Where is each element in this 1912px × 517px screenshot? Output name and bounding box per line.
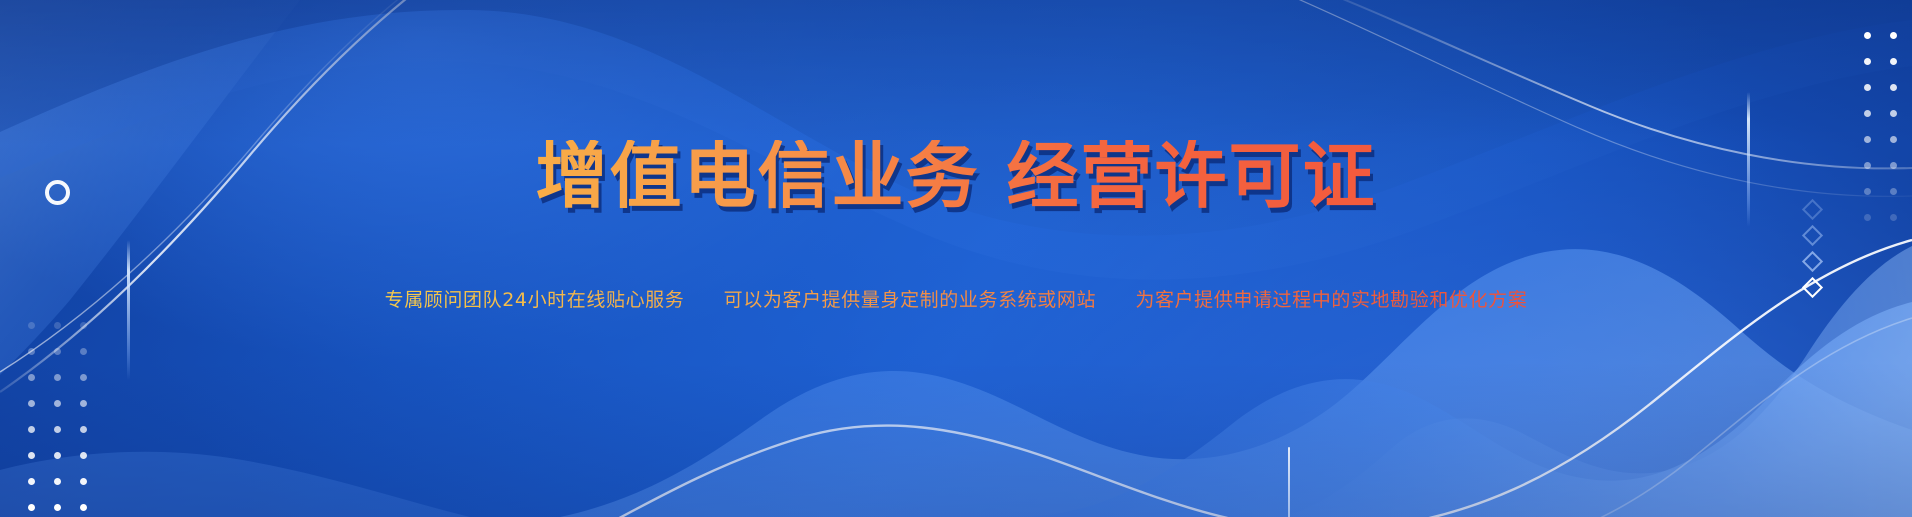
banner-subtitle: 专属顾问团队24小时在线贴心服务 可以为客户提供量身定制的业务系统或网站 为客户…: [0, 288, 1912, 313]
promo-banner: 增值电信业务 经营许可证 专属顾问团队24小时在线贴心服务 可以为客户提供量身定…: [0, 0, 1912, 517]
banner-content: 增值电信业务 经营许可证 专属顾问团队24小时在线贴心服务 可以为客户提供量身定…: [0, 0, 1912, 517]
subtitle-segment-3: 为客户提供申请过程中的实地勘验和优化方案: [1135, 289, 1527, 311]
subtitle-segment-1: 专属顾问团队24小时在线贴心服务: [385, 289, 685, 311]
banner-title: 增值电信业务 经营许可证: [0, 140, 1912, 212]
subtitle-segment-2: 可以为客户提供量身定制的业务系统或网站: [724, 289, 1096, 311]
